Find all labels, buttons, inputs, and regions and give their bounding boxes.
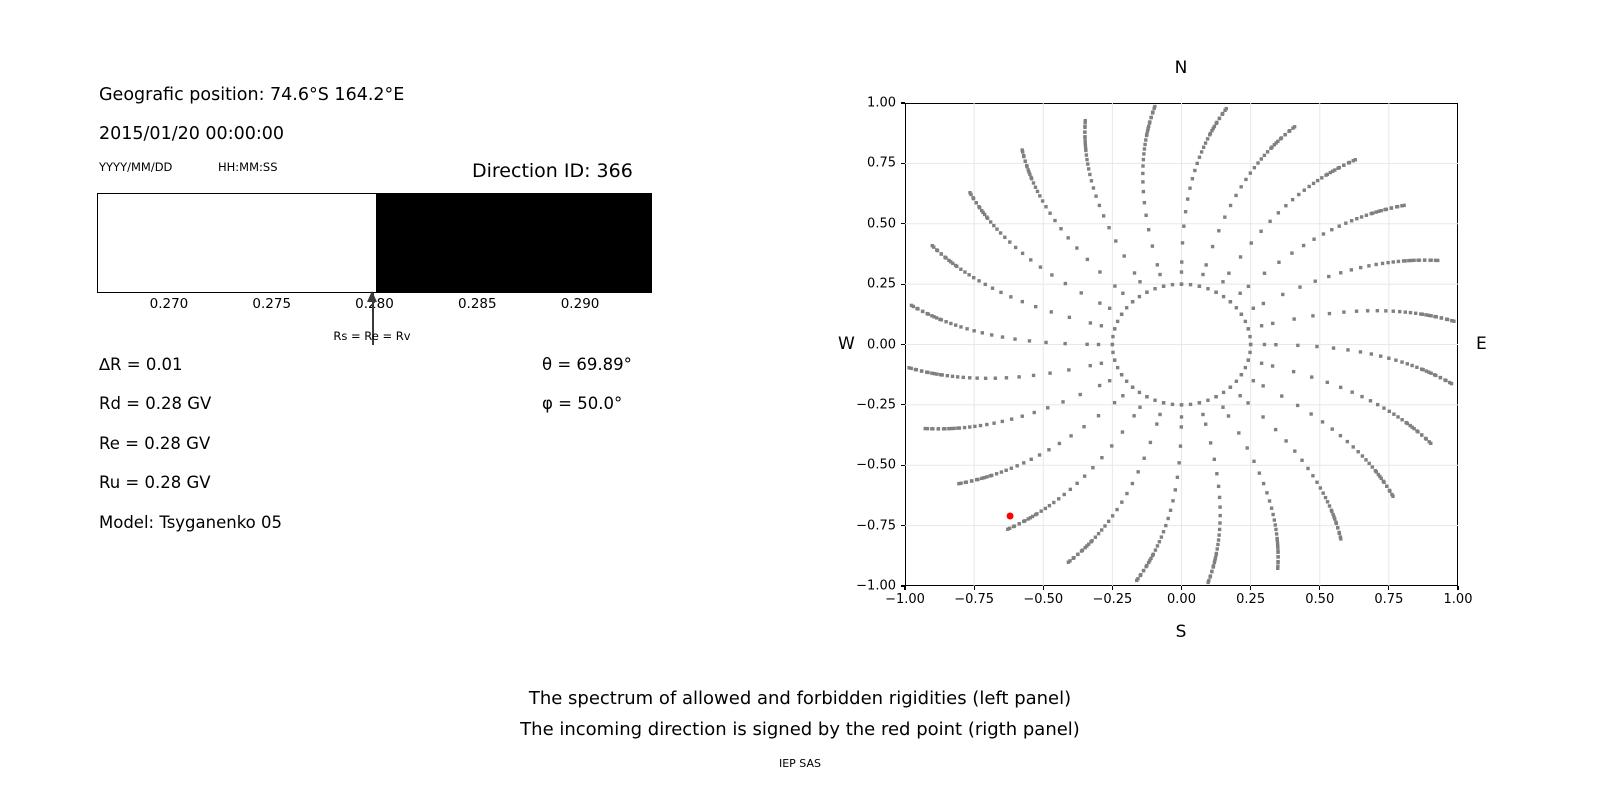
spectrum-tick-label: 0.290: [561, 296, 600, 312]
y-axis-tick-label: −0.75: [856, 518, 896, 533]
caption-line-1: The spectrum of allowed and forbidden ri…: [529, 688, 1071, 709]
x-axis-tick-mark: [1043, 586, 1044, 590]
x-axis-tick-label: 0.25: [1236, 592, 1265, 607]
y-axis-tick-mark: [901, 163, 905, 164]
x-axis-tick-label: −0.50: [1023, 592, 1063, 607]
y-axis-tick-mark: [901, 284, 905, 285]
y-axis-tick-label: −0.25: [856, 397, 896, 412]
rigidity-spectrum-chart: [97, 193, 652, 293]
y-axis-tick-label: 0.00: [867, 337, 896, 352]
x-axis-tick-mark: [904, 586, 905, 590]
parameter-line: ∆R = 0.01: [99, 355, 183, 374]
x-axis-tick-label: 0.00: [1167, 592, 1196, 607]
y-axis-tick-mark: [901, 404, 905, 405]
compass-label-west: W: [838, 334, 855, 354]
caption-line-2: The incoming direction is signed by the …: [520, 719, 1080, 740]
compass-label-east: E: [1476, 334, 1487, 354]
x-axis-tick-label: 0.50: [1305, 592, 1334, 607]
x-axis-tick-label: −0.75: [954, 592, 994, 607]
x-axis-tick-label: −0.25: [1092, 592, 1132, 607]
parameter-line: φ = 50.0°: [542, 394, 622, 413]
x-axis-tick-mark: [1457, 586, 1458, 590]
x-axis-tick-mark: [1388, 586, 1389, 590]
compass-label-north: N: [1175, 58, 1188, 78]
direction-id-text: Direction ID: 366: [472, 160, 633, 182]
parameter-line: Re = 0.28 GV: [99, 434, 210, 453]
y-axis-tick-mark: [901, 102, 905, 103]
x-axis-tick-mark: [1112, 586, 1113, 590]
x-axis-tick-label: 0.75: [1374, 592, 1403, 607]
y-axis-tick-mark: [901, 465, 905, 466]
cutoff-arrow-label: Rs = Re = Rv: [333, 329, 410, 343]
footer-credit: IEP SAS: [779, 757, 821, 770]
parameter-line: Rd = 0.28 GV: [99, 394, 211, 413]
y-axis-tick-label: 1.00: [867, 96, 896, 111]
spectrum-bar: [97, 193, 652, 293]
y-axis-tick-mark: [901, 223, 905, 224]
x-axis-tick-mark: [1250, 586, 1251, 590]
y-axis-tick-label: 0.50: [867, 216, 896, 231]
geographic-position-text: Geografic position: 74.6°S 164.2°E: [99, 85, 404, 105]
x-axis-tick-label: −1.00: [885, 592, 925, 607]
x-axis-tick-mark: [1181, 586, 1182, 590]
cutoff-arrow-head: [367, 291, 377, 302]
x-axis-tick-label: 1.00: [1444, 592, 1473, 607]
date-format-hint: YYYY/MM/DD: [99, 160, 172, 174]
left-panel: Geografic position: 74.6°S 164.2°E 2015/…: [0, 0, 800, 800]
y-axis-tick-label: 0.25: [867, 277, 896, 292]
selected-direction-point: [1007, 512, 1014, 519]
time-format-hint: HH:MM:SS: [218, 160, 278, 174]
parameter-line: Ru = 0.28 GV: [99, 473, 211, 492]
spectrum-tick-label: 0.285: [458, 296, 497, 312]
parameter-line: θ = 69.89°: [542, 355, 632, 374]
spectrum-tick-label: 0.275: [252, 296, 291, 312]
x-axis-tick-mark: [974, 586, 975, 590]
spectrum-tick-label: 0.270: [150, 296, 189, 312]
y-axis-tick-mark: [901, 344, 905, 345]
x-axis-tick-mark: [1319, 586, 1320, 590]
sky-direction-plot-panel: N S W E −1.00−0.75−0.50−0.250.000.250.50…: [800, 0, 1600, 800]
y-axis-tick-label: 0.75: [867, 156, 896, 171]
spectrum-forbidden-region: [376, 194, 653, 292]
compass-label-south: S: [1176, 622, 1187, 642]
datetime-text: 2015/01/20 00:00:00: [99, 124, 284, 144]
y-axis-tick-label: −0.50: [856, 458, 896, 473]
y-axis-tick-mark: [901, 525, 905, 526]
polar-scatter-svg: [905, 103, 1458, 586]
parameter-line: Model: Tsyganenko 05: [99, 513, 282, 532]
